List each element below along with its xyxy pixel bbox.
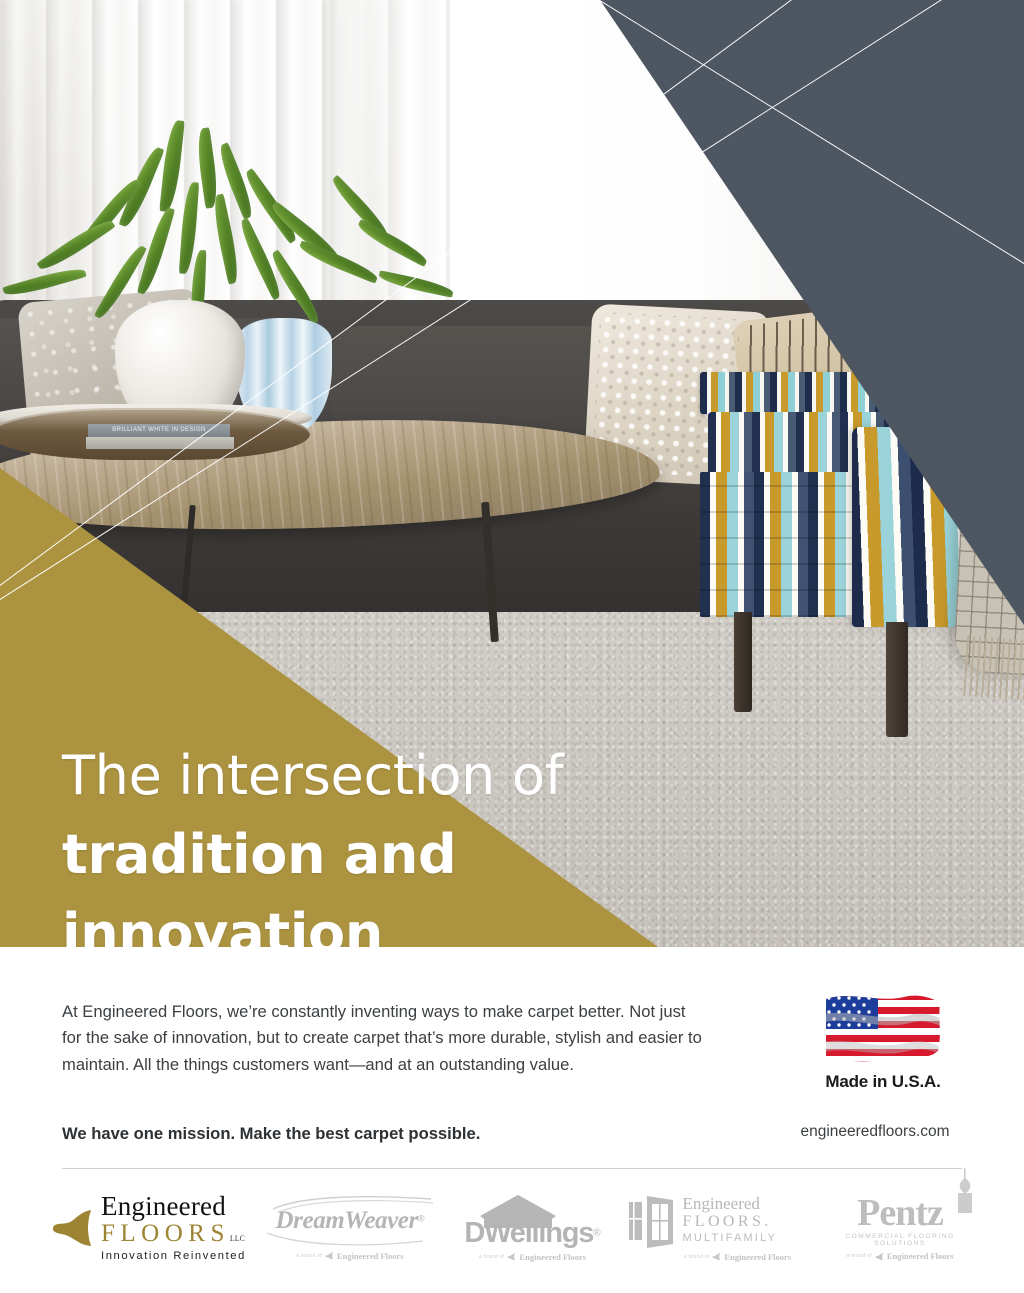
byline-prefix: a brand of [846, 1253, 872, 1259]
mission-statement: We have one mission. Make the best carpe… [62, 1124, 702, 1144]
byline-brand: Engineered Floors [887, 1251, 954, 1261]
byline-brand: Engineered Floors [337, 1251, 404, 1261]
website-url[interactable]: engineeredfloors.com [760, 1123, 990, 1141]
byline-prefix: a brand of [684, 1254, 710, 1260]
logo-pentz[interactable]: Pentz COMMERCIAL FLOORING SOLUTIONS a br… [820, 1194, 980, 1261]
efm-wordmark: Engineered FLOORS. MULTIFAMILY [683, 1195, 778, 1246]
logo-engineered-floors-multifamily[interactable]: Engineered FLOORS. MULTIFAMILY a brand o… [628, 1194, 808, 1262]
byline-mark-icon [712, 1252, 721, 1261]
dwellings-text: DWellings [464, 1217, 593, 1249]
usa-flag-icon [820, 989, 946, 1069]
dwellings-byline: a brand of Engineered Floors [450, 1252, 615, 1262]
dreamweaver-wordmark: DreamWeaver® [263, 1208, 438, 1233]
ef-line-floors: FLOORSLLC [101, 1221, 246, 1246]
dreamweaver-word-dream: Dream [276, 1207, 345, 1234]
logo-engineered-floors[interactable]: Engineered FLOORSLLC Innovation Reinvent… [50, 1193, 250, 1262]
byline-brand: Engineered Floors [519, 1252, 586, 1262]
hero-photo-section: BRILLIANT WHITE IN DESIGN The intersecti… [0, 0, 1024, 947]
efm-line-multifamily: MULTIFAMILY [683, 1231, 778, 1245]
headline-line-2: tradition and innovation [62, 815, 762, 947]
throw-fringe [963, 636, 1024, 704]
footer-divider [62, 1168, 962, 1169]
pentz-byline: a brand of Engineered Floors [820, 1251, 980, 1261]
byline-mark-icon [507, 1252, 516, 1261]
pentz-spire-icon [952, 1168, 978, 1214]
dreamweaver-word-weaver: Weaver [344, 1207, 418, 1234]
ef-llc-suffix: LLC [230, 1234, 245, 1243]
dwellings-wordmark: DWellings® [450, 1219, 615, 1248]
ef-line-engineered: Engineered [101, 1193, 246, 1220]
made-in-usa-badge: Made in U.S.A. [798, 989, 968, 1092]
dreamweaver-byline: a brand of Engineered Floors [263, 1251, 438, 1261]
efm-line-engineered: Engineered [683, 1195, 778, 1213]
efm-line-floors: FLOORS. [683, 1213, 778, 1231]
byline-prefix: a brand of [296, 1253, 322, 1259]
engineered-floors-mark-icon [50, 1205, 94, 1249]
body-paragraph: At Engineered Floors, we’re constantly i… [62, 999, 702, 1078]
chair-leg-right [886, 622, 908, 737]
logo-dream-weaver[interactable]: DreamWeaver® a brand of Engineered Floor… [263, 1195, 438, 1261]
brand-logo-row: Engineered FLOORSLLC Innovation Reinvent… [50, 1180, 980, 1275]
ef-tagline: Innovation Reinvented [101, 1251, 246, 1262]
pentz-tagline: COMMERCIAL FLOORING SOLUTIONS [820, 1233, 980, 1247]
byline-brand: Engineered Floors [724, 1252, 791, 1262]
logo-dwellings[interactable]: DWellings® a brand of Engineered Floors [450, 1194, 615, 1262]
chair-leg-left [734, 612, 752, 712]
efm-byline: a brand of Engineered Floors [668, 1252, 808, 1262]
book-bottom [86, 437, 234, 449]
dreamweaver-registered-icon: ® [418, 1213, 425, 1223]
pentz-wordmark: Pentz [857, 1192, 943, 1234]
hero-headline: The intersection of tradition and innova… [62, 736, 762, 947]
headline-line-1: The intersection of [62, 736, 762, 815]
ad-page: BRILLIANT WHITE IN DESIGN The intersecti… [0, 0, 1024, 1293]
made-in-usa-label: Made in U.S.A. [798, 1072, 968, 1092]
window-door-icon [628, 1194, 676, 1248]
engineered-floors-wordmark: Engineered FLOORSLLC Innovation Reinvent… [101, 1193, 246, 1262]
lower-content-section: At Engineered Floors, we’re constantly i… [0, 947, 1024, 1293]
byline-prefix: a brand of [479, 1254, 505, 1260]
byline-mark-icon [325, 1251, 334, 1260]
dwellings-registered-icon: ® [593, 1227, 600, 1238]
byline-mark-icon [875, 1252, 884, 1261]
